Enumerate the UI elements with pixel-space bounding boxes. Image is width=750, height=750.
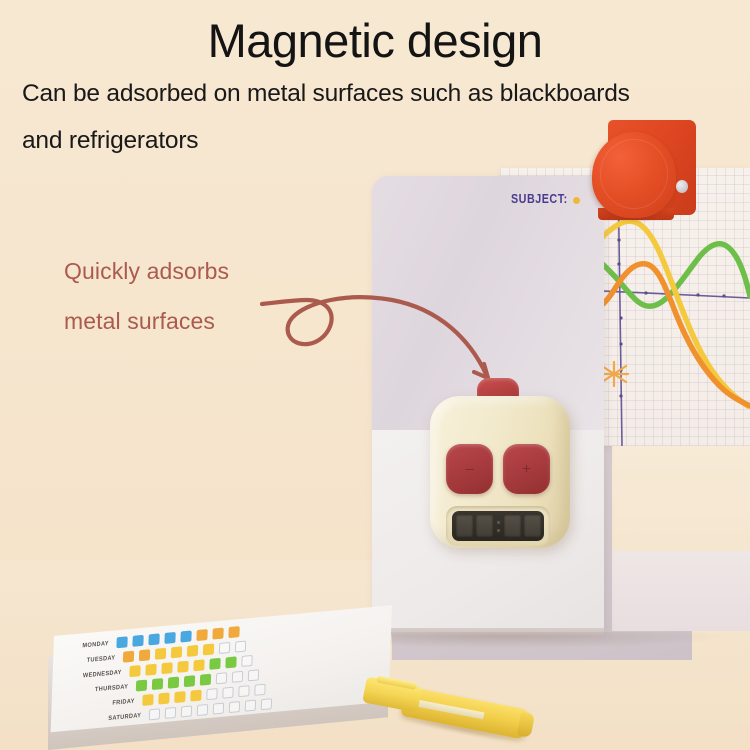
- pad-checkbox-sticker: [200, 674, 211, 686]
- pad-checkbox-sticker: [165, 707, 176, 719]
- pad-checkbox-sticker: [245, 700, 256, 712]
- pad-checkbox-sticker: [232, 671, 243, 683]
- magnetic-clip: [592, 120, 698, 228]
- pad-day-label: SATURDAY: [93, 712, 142, 723]
- pad-checkbox-sticker: [216, 672, 227, 684]
- timer-minus-button[interactable]: –: [446, 444, 493, 494]
- lcd-digit-1: [456, 515, 473, 537]
- pad-checkbox-sticker: [155, 648, 166, 660]
- product-marketing-image: Magnetic design Can be adsorbed on metal…: [0, 0, 750, 750]
- pad-checkbox-sticker: [241, 655, 252, 667]
- timer-plus-button[interactable]: +: [503, 444, 550, 494]
- plus-icon: +: [522, 462, 531, 477]
- pad-day-label: FRIDAY: [86, 698, 135, 709]
- pad-checkbox-sticker: [206, 688, 217, 700]
- lcd-colon-icon: [497, 521, 500, 532]
- pad-checkbox-sticker: [212, 628, 223, 640]
- pad-checkbox-sticker: [238, 685, 249, 697]
- pad-checkbox-sticker: [158, 692, 169, 704]
- graph-paper-lower-panel-2: [612, 551, 750, 631]
- pad-checkbox-sticker: [171, 646, 182, 658]
- asterisk-marker: [600, 362, 628, 386]
- pad-checkbox-sticker: [181, 705, 192, 717]
- pad-checkbox-sticker: [225, 656, 236, 668]
- pad-checkbox-sticker: [164, 632, 175, 644]
- pad-checkbox-sticker: [149, 708, 160, 720]
- pad-day-label: THURSDAY: [80, 683, 129, 694]
- pad-checkbox-sticker: [197, 704, 208, 716]
- pad-checkbox-sticker: [229, 701, 240, 713]
- lcd-digit-2: [476, 515, 493, 537]
- pad-checkbox-sticker: [123, 651, 134, 663]
- pad-checkbox-sticker: [136, 680, 147, 692]
- pad-checkbox-sticker: [180, 630, 191, 642]
- pad-checkbox-sticker: [190, 690, 201, 702]
- pad-checkbox-sticker: [222, 687, 233, 699]
- pad-checkbox-sticker: [248, 669, 259, 681]
- minus-icon: –: [465, 462, 473, 477]
- pad-checkbox-sticker: [213, 703, 224, 715]
- subtitle-line-1: Can be adsorbed on metal surfaces such a…: [22, 80, 742, 108]
- pad-checkbox-sticker: [209, 658, 220, 670]
- pad-checkbox-sticker: [235, 641, 246, 653]
- pad-day-label: WEDNESDAY: [73, 669, 122, 680]
- timer-body: – +: [430, 396, 570, 548]
- pad-checkbox-sticker: [145, 664, 156, 676]
- timer-screen-bezel: [446, 506, 550, 546]
- clip-magnet-disc: [592, 132, 676, 218]
- pad-checkbox-sticker: [219, 642, 230, 654]
- pad-checkbox-sticker: [254, 684, 265, 696]
- clip-hinge-screw-icon: [676, 180, 688, 193]
- pad-day-label: MONDAY: [60, 640, 109, 651]
- pad-checkbox-sticker: [132, 635, 143, 647]
- lcd-digit-3: [504, 515, 521, 537]
- pad-checkbox-sticker: [129, 665, 140, 677]
- habit-tracker-pad: MONDAYTUESDAYWEDNESDAYTHURSDAYFRIDAYSATU…: [48, 636, 392, 750]
- pad-day-label: TUESDAY: [67, 654, 116, 665]
- pad-checkbox-sticker: [168, 677, 179, 689]
- pad-checkbox-sticker: [261, 698, 272, 710]
- pad-checkbox-sticker: [196, 629, 207, 641]
- subject-label: SUBJECT:: [511, 192, 568, 206]
- kitchen-timer-device: – +: [430, 378, 576, 548]
- timer-lcd-display: [452, 511, 544, 541]
- pad-checkbox-sticker: [174, 691, 185, 703]
- subject-dot-icon: [573, 197, 580, 204]
- pad-checkbox-sticker: [228, 626, 239, 638]
- pad-checkbox-sticker: [203, 643, 214, 655]
- lcd-digit-4: [524, 515, 541, 537]
- pad-checkbox-sticker: [116, 636, 127, 648]
- pad-checkbox-sticker: [177, 661, 188, 673]
- page-title: Magnetic design: [0, 12, 750, 70]
- graph-paper-lower-panel: [612, 446, 750, 551]
- callout-line-1: Quickly adsorbs: [64, 258, 229, 285]
- pad-checkbox-sticker: [152, 678, 163, 690]
- pad-checkbox-sticker: [187, 645, 198, 657]
- pad-checkbox-sticker: [193, 659, 204, 671]
- pad-checkbox-sticker: [161, 662, 172, 674]
- pad-checkbox-sticker: [148, 633, 159, 645]
- pad-checkbox-sticker: [139, 649, 150, 661]
- notebook-floor-shadow: [360, 632, 720, 648]
- callout-line-2: metal surfaces: [64, 308, 215, 335]
- pad-checkbox-sticker: [184, 675, 195, 687]
- pad-checkbox-sticker: [142, 694, 153, 706]
